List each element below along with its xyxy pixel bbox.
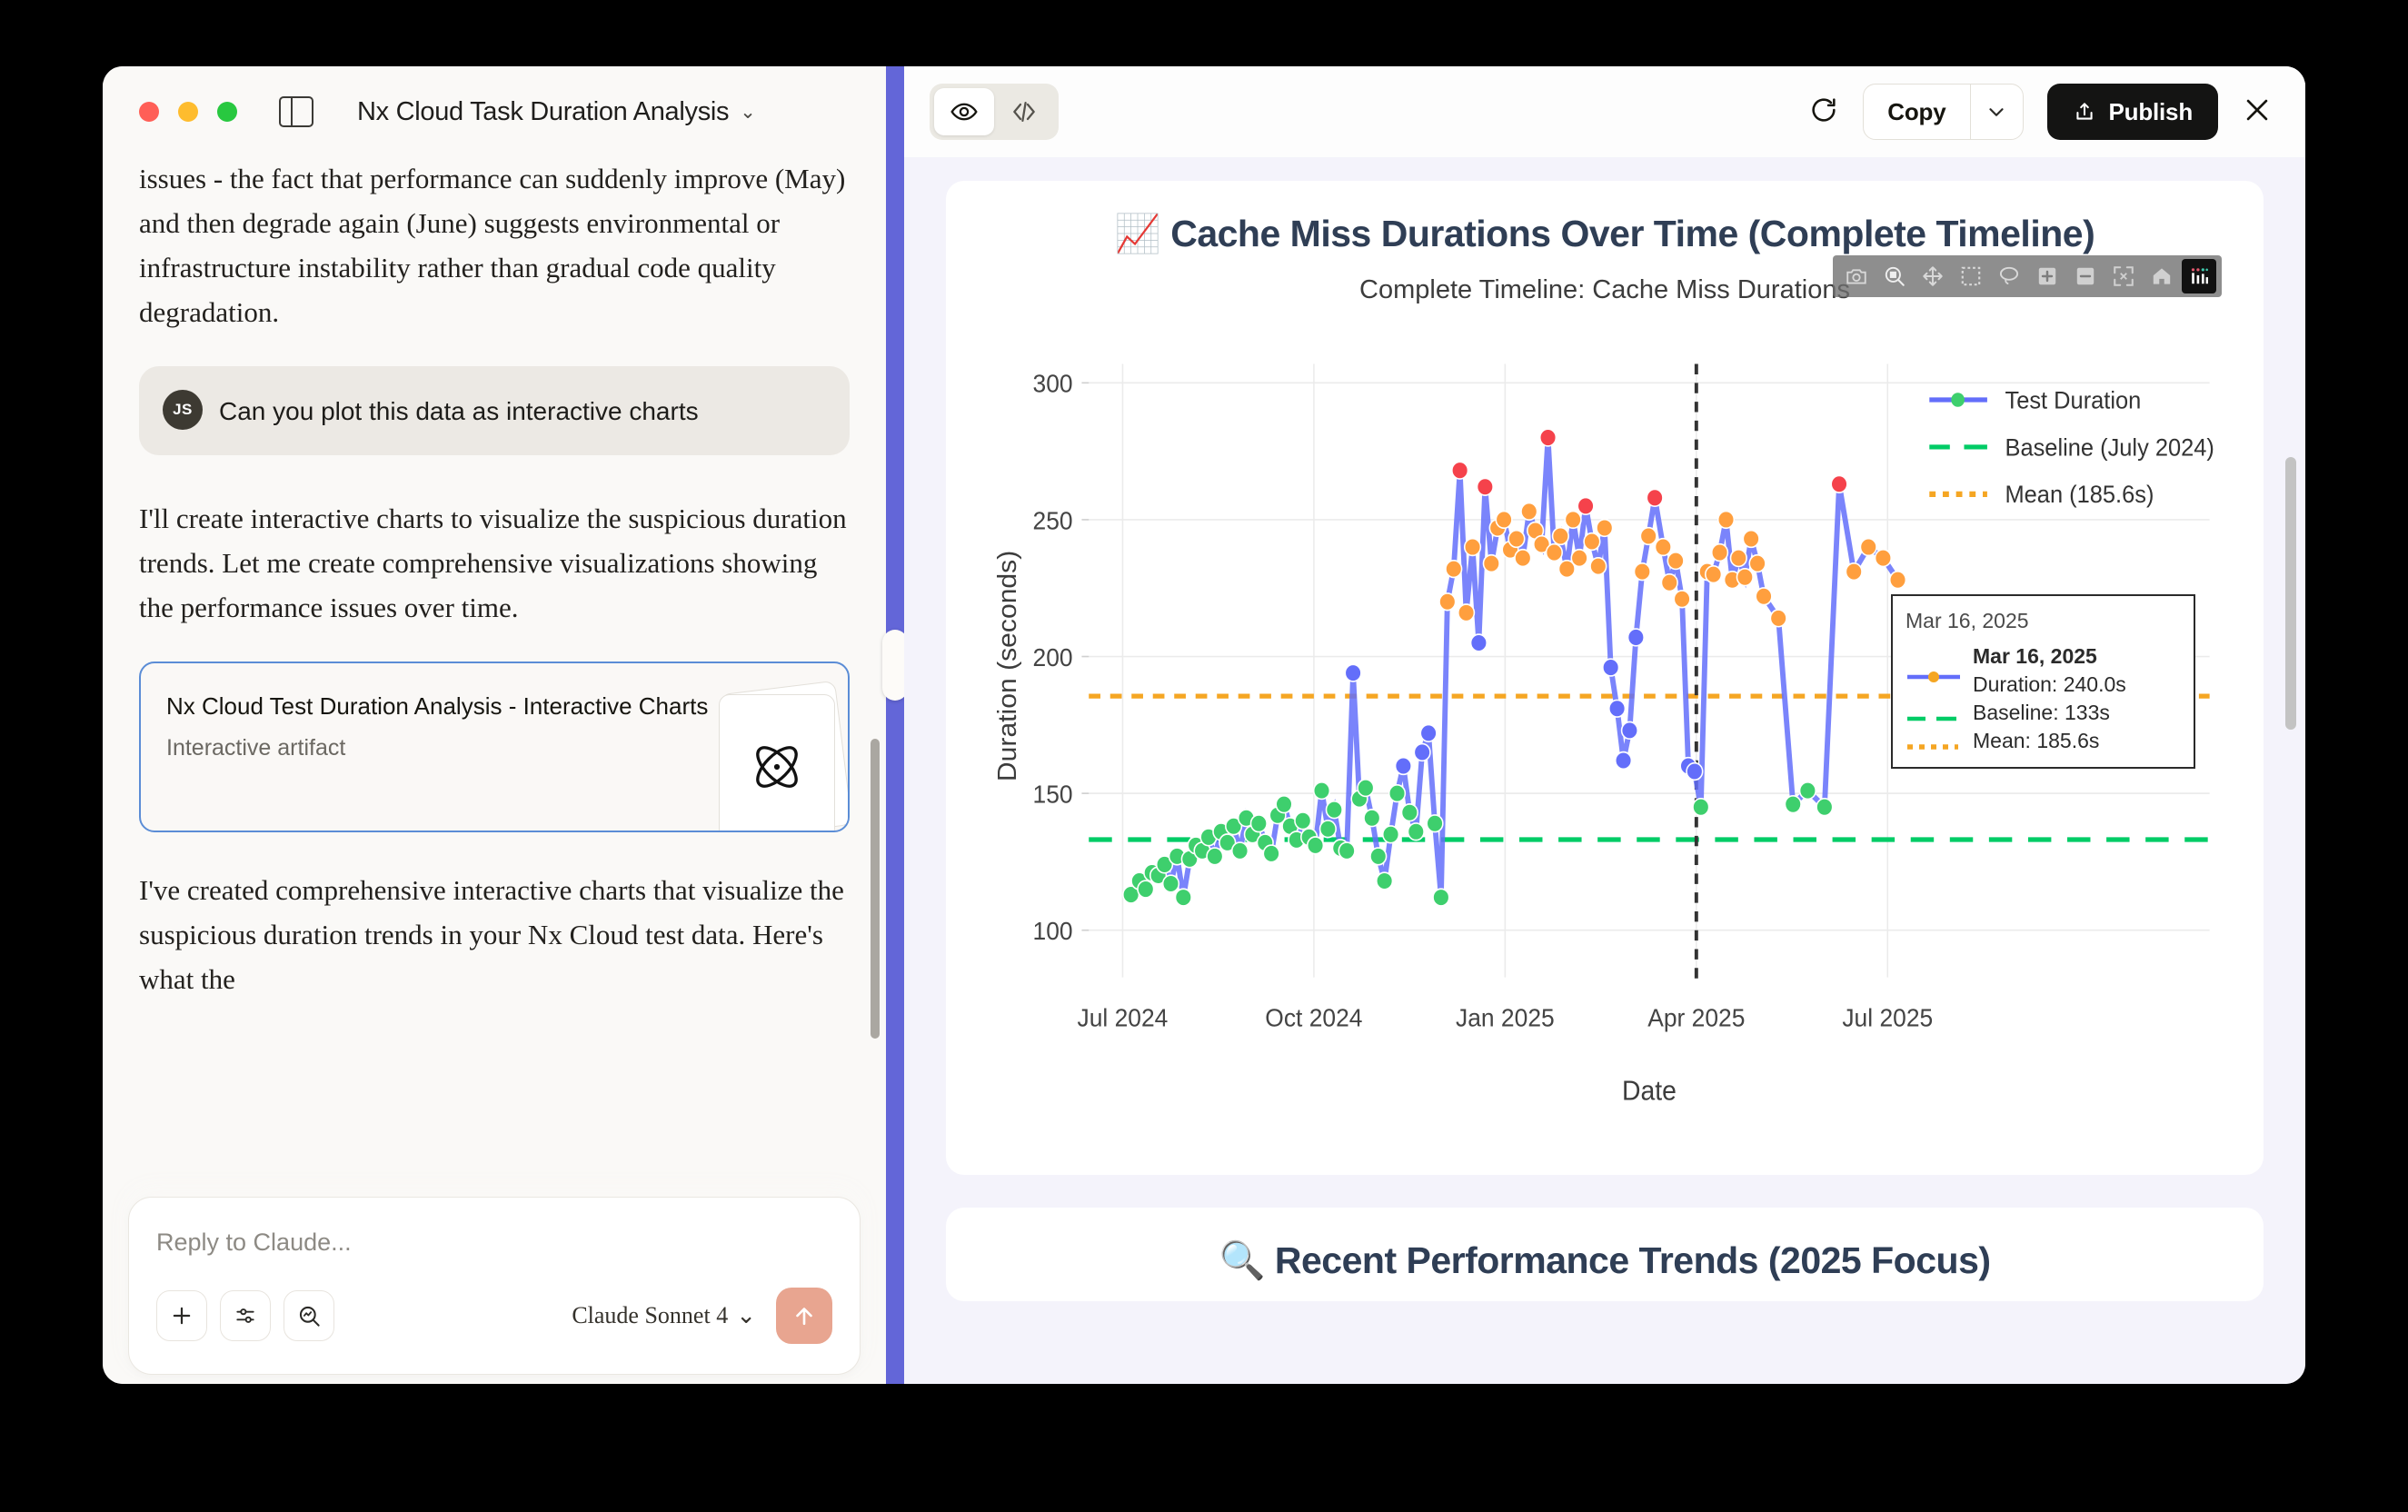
- plotly-logo-icon[interactable]: [2182, 259, 2216, 293]
- data-point[interactable]: [1816, 799, 1833, 816]
- svg-text:Jul 2024: Jul 2024: [1078, 1003, 1169, 1032]
- data-point[interactable]: [1553, 528, 1569, 545]
- chat-pane: Nx Cloud Task Duration Analysis ⌄ issues…: [103, 66, 886, 1384]
- close-icon: [2242, 94, 2273, 125]
- view-mode-toggle: [930, 84, 1059, 140]
- data-point[interactable]: [1427, 815, 1443, 832]
- data-point[interactable]: [1693, 799, 1709, 816]
- data-point[interactable]: [1661, 574, 1677, 592]
- data-point[interactable]: [1674, 591, 1690, 608]
- copy-button-group: Copy: [1863, 84, 2023, 140]
- data-point[interactable]: [1370, 848, 1387, 865]
- zoom-out-icon[interactable]: [2067, 258, 2104, 294]
- chart-tooltip: Mar 16, 2025 Mar 16, 2025 Duration: 240.…: [1891, 594, 2195, 769]
- tooltip-duration: Duration: 240.0s: [1973, 671, 2126, 699]
- copy-button[interactable]: Copy: [1864, 85, 1969, 139]
- data-point[interactable]: [1383, 826, 1399, 843]
- data-point[interactable]: [1547, 544, 1563, 562]
- code-icon: [1010, 97, 1039, 126]
- pan-icon[interactable]: [1915, 258, 1951, 294]
- data-point[interactable]: [1616, 752, 1632, 770]
- legend-label-0: Test Duration: [2005, 386, 2141, 414]
- data-point[interactable]: [1609, 701, 1626, 718]
- data-point[interactable]: [1138, 881, 1154, 899]
- legend-label-1: Baseline (July 2024): [2005, 433, 2214, 462]
- tools-button[interactable]: [220, 1290, 271, 1341]
- close-window-button[interactable]: [139, 102, 159, 122]
- data-point[interactable]: [1251, 815, 1268, 832]
- data-point[interactable]: [1458, 604, 1475, 622]
- chart-card-2-heading: 🔍 Recent Performance Trends (2025 Focus): [973, 1238, 2236, 1282]
- data-point[interactable]: [1483, 555, 1499, 572]
- data-point[interactable]: [1465, 539, 1481, 556]
- tooltip-row-duration: Mar 16, 2025 Duration: 240.0s: [1906, 642, 2181, 699]
- data-point[interactable]: [1320, 821, 1337, 838]
- data-point[interactable]: [1364, 810, 1380, 827]
- data-point[interactable]: [1571, 550, 1587, 567]
- tooltip-row-mean: Mean: 185.6s: [1906, 727, 2181, 755]
- data-point[interactable]: [1731, 550, 1747, 567]
- close-artifact-button[interactable]: [2242, 94, 2273, 130]
- data-point[interactable]: [1433, 890, 1449, 907]
- tooltip-mean: Mean: 185.6s: [1973, 727, 2099, 755]
- copy-dropdown-button[interactable]: [1970, 85, 2023, 139]
- svg-text:Jan 2025: Jan 2025: [1456, 1003, 1555, 1032]
- maximize-window-button[interactable]: [217, 102, 237, 122]
- plus-icon: [169, 1303, 194, 1328]
- svg-text:Jul 2025: Jul 2025: [1842, 1003, 1933, 1032]
- camera-icon[interactable]: [1838, 258, 1875, 294]
- data-point[interactable]: [1439, 593, 1456, 611]
- data-point[interactable]: [1540, 430, 1557, 447]
- data-point[interactable]: [1420, 725, 1437, 742]
- artifact-card-subtitle: Interactive artifact: [166, 735, 711, 761]
- data-point[interactable]: [1831, 476, 1847, 493]
- svg-text:100: 100: [1033, 917, 1073, 946]
- send-button[interactable]: [776, 1288, 832, 1344]
- data-point[interactable]: [1584, 533, 1600, 551]
- data-point[interactable]: [1634, 563, 1650, 581]
- tooltip-title: Mar 16, 2025: [1973, 642, 2126, 671]
- reset-axes-home-icon[interactable]: [2144, 258, 2180, 294]
- tooltip-key-duration: [1906, 663, 1962, 678]
- data-point[interactable]: [1590, 558, 1607, 575]
- artifact-thumbnail: [711, 663, 848, 831]
- data-point[interactable]: [1800, 782, 1816, 800]
- artifact-card-text: Nx Cloud Test Duration Analysis - Intera…: [141, 663, 711, 831]
- data-point[interactable]: [1345, 665, 1361, 682]
- tooltip-baseline: Baseline: 133s: [1973, 699, 2110, 727]
- box-select-icon[interactable]: [1953, 258, 1989, 294]
- chart-legend: Test Duration Baseline (July 2024) Mean …: [1929, 386, 2214, 509]
- data-point[interactable]: [1647, 490, 1663, 507]
- refresh-icon: [1808, 94, 1839, 125]
- composer-toolbar: Claude Sonnet 4 ⌄: [156, 1288, 832, 1344]
- data-point[interactable]: [1327, 801, 1343, 819]
- artifact-scrollbar-thumb[interactable]: [2285, 457, 2296, 730]
- avatar: JS: [163, 390, 203, 430]
- search-research-icon: [297, 1304, 322, 1328]
- window-title-text: Nx Cloud Task Duration Analysis: [357, 97, 729, 127]
- x-axis-label: Date: [1622, 1077, 1677, 1107]
- data-point[interactable]: [1743, 531, 1759, 548]
- data-point[interactable]: [1712, 544, 1728, 562]
- chevron-down-icon: ⌄: [740, 101, 755, 124]
- legend-label-2: Mean (185.6s): [2005, 481, 2154, 509]
- data-point[interactable]: [1656, 539, 1672, 556]
- svg-text:200: 200: [1033, 643, 1073, 672]
- minimize-window-button[interactable]: [178, 102, 198, 122]
- data-point[interactable]: [1515, 550, 1531, 567]
- window-traffic-lights[interactable]: [139, 102, 237, 122]
- data-point[interactable]: [1471, 634, 1488, 652]
- data-point[interactable]: [1295, 812, 1311, 830]
- data-point[interactable]: [1565, 512, 1581, 529]
- chevron-down-icon: ⌄: [736, 1302, 756, 1329]
- data-point[interactable]: [1890, 572, 1906, 589]
- y-axis-label: Duration (seconds): [994, 551, 1022, 781]
- data-point[interactable]: [1452, 463, 1468, 480]
- reply-input[interactable]: Reply to Claude...: [156, 1228, 832, 1257]
- data-point[interactable]: [1603, 660, 1619, 677]
- app-window: Nx Cloud Task Duration Analysis ⌄ issues…: [103, 66, 2305, 1384]
- artifact-thumb-front: [719, 694, 835, 832]
- plotly-modebar: [1833, 255, 2222, 297]
- tooltip-row-baseline: Baseline: 133s: [1906, 699, 2181, 727]
- research-button[interactable]: [284, 1290, 334, 1341]
- chat-header: Nx Cloud Task Duration Analysis ⌄: [103, 66, 886, 157]
- data-point[interactable]: [1358, 780, 1374, 797]
- artifact-card[interactable]: Nx Cloud Test Duration Analysis - Intera…: [139, 661, 850, 832]
- data-point[interactable]: [1785, 796, 1801, 813]
- data-point[interactable]: [1628, 629, 1645, 646]
- assistant-paragraph-top: issues - the fact that performance can s…: [139, 157, 850, 335]
- user-message-text: Can you plot this data as interactive ch…: [219, 390, 699, 430]
- data-point[interactable]: [1402, 804, 1418, 821]
- data-point[interactable]: [1597, 520, 1613, 537]
- data-point[interactable]: [1263, 845, 1279, 862]
- data-point[interactable]: [1175, 890, 1191, 907]
- data-point[interactable]: [1640, 528, 1657, 545]
- data-point[interactable]: [1706, 566, 1722, 583]
- svg-text:150: 150: [1033, 780, 1073, 809]
- data-point[interactable]: [1308, 837, 1324, 854]
- data-point[interactable]: [1389, 785, 1406, 802]
- svg-text:250: 250: [1033, 506, 1073, 535]
- data-point[interactable]: [1338, 842, 1355, 860]
- tooltip-header: Mar 16, 2025: [1906, 607, 2181, 635]
- zoom-box-icon[interactable]: [1876, 258, 1913, 294]
- data-point[interactable]: [1508, 531, 1525, 548]
- artifact-actions: Copy Publish: [1808, 84, 2273, 140]
- eye-icon: [950, 97, 979, 126]
- data-point[interactable]: [1667, 552, 1684, 570]
- data-point[interactable]: [1718, 512, 1735, 529]
- model-selector[interactable]: Claude Sonnet 4 ⌄: [572, 1302, 756, 1329]
- share-icon: [2073, 100, 2096, 124]
- lasso-select-icon[interactable]: [1991, 258, 2027, 294]
- publish-label: Publish: [2109, 98, 2194, 126]
- plotly-figure: Complete Timeline: Cache Miss Durations: [973, 275, 2236, 1157]
- composer: Reply to Claude...: [128, 1197, 861, 1375]
- tooltip-key-mean: [1906, 733, 1962, 748]
- data-series: [1123, 430, 1906, 907]
- artifact-card-title: Nx Cloud Test Duration Analysis - Intera…: [166, 691, 711, 722]
- chevron-down-icon: [1985, 100, 2008, 124]
- pane-divider[interactable]: [886, 66, 904, 1384]
- chat-scrollbar-thumb[interactable]: [871, 739, 880, 1039]
- data-point[interactable]: [1377, 873, 1393, 890]
- data-point[interactable]: [1622, 722, 1638, 740]
- artifact-scroll-area: 📈 Cache Miss Durations Over Time (Comple…: [904, 157, 2305, 1384]
- tab-code[interactable]: [994, 88, 1054, 135]
- svg-text:Oct 2024: Oct 2024: [1265, 1003, 1362, 1032]
- data-point[interactable]: [1396, 758, 1412, 775]
- data-point[interactable]: [1207, 848, 1223, 865]
- data-point[interactable]: [1736, 569, 1753, 586]
- data-point[interactable]: [1414, 744, 1430, 761]
- data-point[interactable]: [1770, 610, 1786, 627]
- sidebar-toggle-icon[interactable]: [279, 96, 313, 127]
- data-point[interactable]: [1276, 796, 1292, 813]
- tab-preview[interactable]: [934, 88, 994, 135]
- data-point[interactable]: [1478, 479, 1494, 496]
- data-point[interactable]: [1496, 512, 1512, 529]
- data-point[interactable]: [1687, 763, 1703, 781]
- svg-text:300: 300: [1033, 369, 1073, 398]
- plot-canvas[interactable]: 300 250 200 150 100: [973, 326, 2236, 1157]
- chart-card-2: 🔍 Recent Performance Trends (2025 Focus): [946, 1208, 2264, 1300]
- assistant-reply-2: I've created comprehensive interactive c…: [139, 869, 850, 1002]
- chart-card-1: 📈 Cache Miss Durations Over Time (Comple…: [946, 181, 2264, 1175]
- chart-card-1-heading: 📈 Cache Miss Durations Over Time (Comple…: [973, 212, 2236, 255]
- model-name: Claude Sonnet 4: [572, 1302, 728, 1329]
- data-point[interactable]: [1876, 550, 1892, 567]
- add-attachment-button[interactable]: [156, 1290, 207, 1341]
- publish-button[interactable]: Publish: [2047, 84, 2219, 140]
- user-message: JS Can you plot this data as interactive…: [139, 366, 850, 455]
- sliders-icon: [234, 1304, 257, 1328]
- y-axis-ticks: 300 250 200 150 100: [1033, 369, 1073, 945]
- data-point[interactable]: [1756, 588, 1772, 605]
- window-title[interactable]: Nx Cloud Task Duration Analysis ⌄: [357, 97, 756, 127]
- arrow-up-icon: [791, 1302, 818, 1329]
- data-point[interactable]: [1846, 563, 1862, 581]
- data-point[interactable]: [1408, 823, 1424, 841]
- data-point[interactable]: [1577, 498, 1594, 515]
- refresh-button[interactable]: [1808, 94, 1839, 130]
- atom-icon: [749, 739, 805, 795]
- data-point[interactable]: [1446, 561, 1462, 578]
- data-point[interactable]: [1749, 555, 1766, 572]
- data-point[interactable]: [1860, 539, 1876, 556]
- x-axis-ticks: Jul 2024 Oct 2024 Jan 2025 Apr 2025 Jul …: [1078, 1003, 1934, 1032]
- svg-text:Apr 2025: Apr 2025: [1647, 1003, 1745, 1032]
- tooltip-key-baseline: [1906, 705, 1962, 720]
- assistant-reply-1: I'll create interactive charts to visual…: [139, 497, 850, 631]
- data-point[interactable]: [1163, 876, 1179, 893]
- zoom-in-icon[interactable]: [2029, 258, 2065, 294]
- data-point[interactable]: [1314, 782, 1330, 800]
- autoscale-icon[interactable]: [2105, 258, 2142, 294]
- artifact-header: Copy Publish: [904, 66, 2305, 157]
- artifact-pane: Copy Publish: [904, 66, 2305, 1384]
- data-point[interactable]: [1521, 503, 1537, 521]
- data-point[interactable]: [1232, 842, 1249, 860]
